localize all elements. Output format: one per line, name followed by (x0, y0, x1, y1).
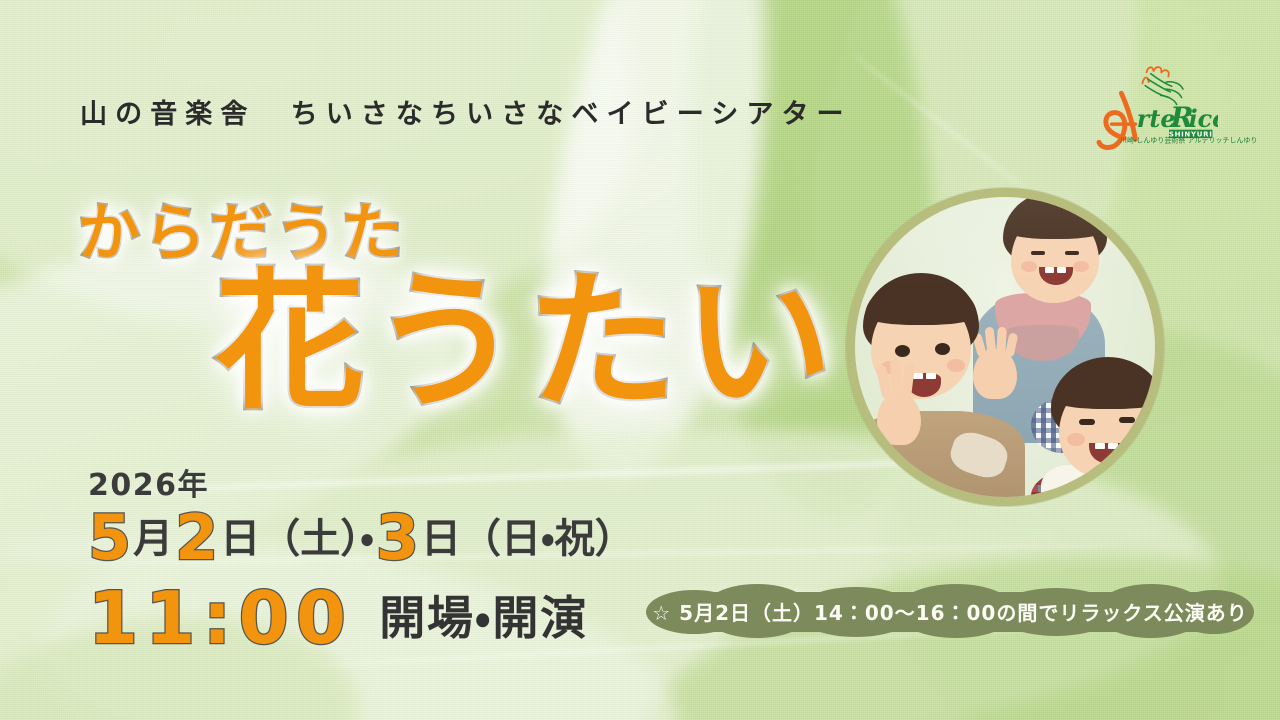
event-year: 2026年 (88, 460, 637, 504)
event-date: 5 月 2 日（土）・ 3 日（日・祝） (88, 506, 637, 568)
event-time-label: 開場・開演 (379, 582, 588, 654)
event-day1-unit: 日（土）・ (218, 506, 376, 568)
company-tagline: 山の音楽舎 ちいさなちいさなベイビーシアター (80, 92, 852, 131)
event-time-row: 11:00 開場・開演 (88, 582, 637, 654)
relax-performance-banner: ☆ 5月2日（土）14：00〜16：00の間でリラックス公演あり (646, 584, 1254, 638)
event-day2-unit: 日（日・祝） (419, 506, 637, 568)
page-title: 花うたい (215, 268, 839, 418)
svg-text:icca: icca (1189, 105, 1218, 133)
event-day1-number: 2 (175, 509, 218, 568)
photo-frame (846, 188, 1164, 506)
event-time: 11:00 (88, 582, 353, 654)
event-day2-number: 3 (376, 509, 419, 568)
poster-canvas: 山の音楽舎 ちいさなちいさなベイビーシアター (0, 0, 1280, 720)
event-month-unit: 月 (131, 506, 175, 568)
event-month-number: 5 (88, 509, 131, 568)
schedule-block: 2026年 5 月 2 日（土）・ 3 日（日・祝） 11:00 開場・開演 (88, 460, 637, 654)
svg-text:rte: rte (1137, 105, 1176, 133)
three-smiling-babies-photo (855, 197, 1155, 497)
relax-performance-text: ☆ 5月2日（土）14：00〜16：00の間でリラックス公演あり (652, 597, 1247, 626)
logo-subtitle-japanese: 川崎・しんゆり芸術祭 アルテリッチしんゆり (1120, 136, 1257, 145)
